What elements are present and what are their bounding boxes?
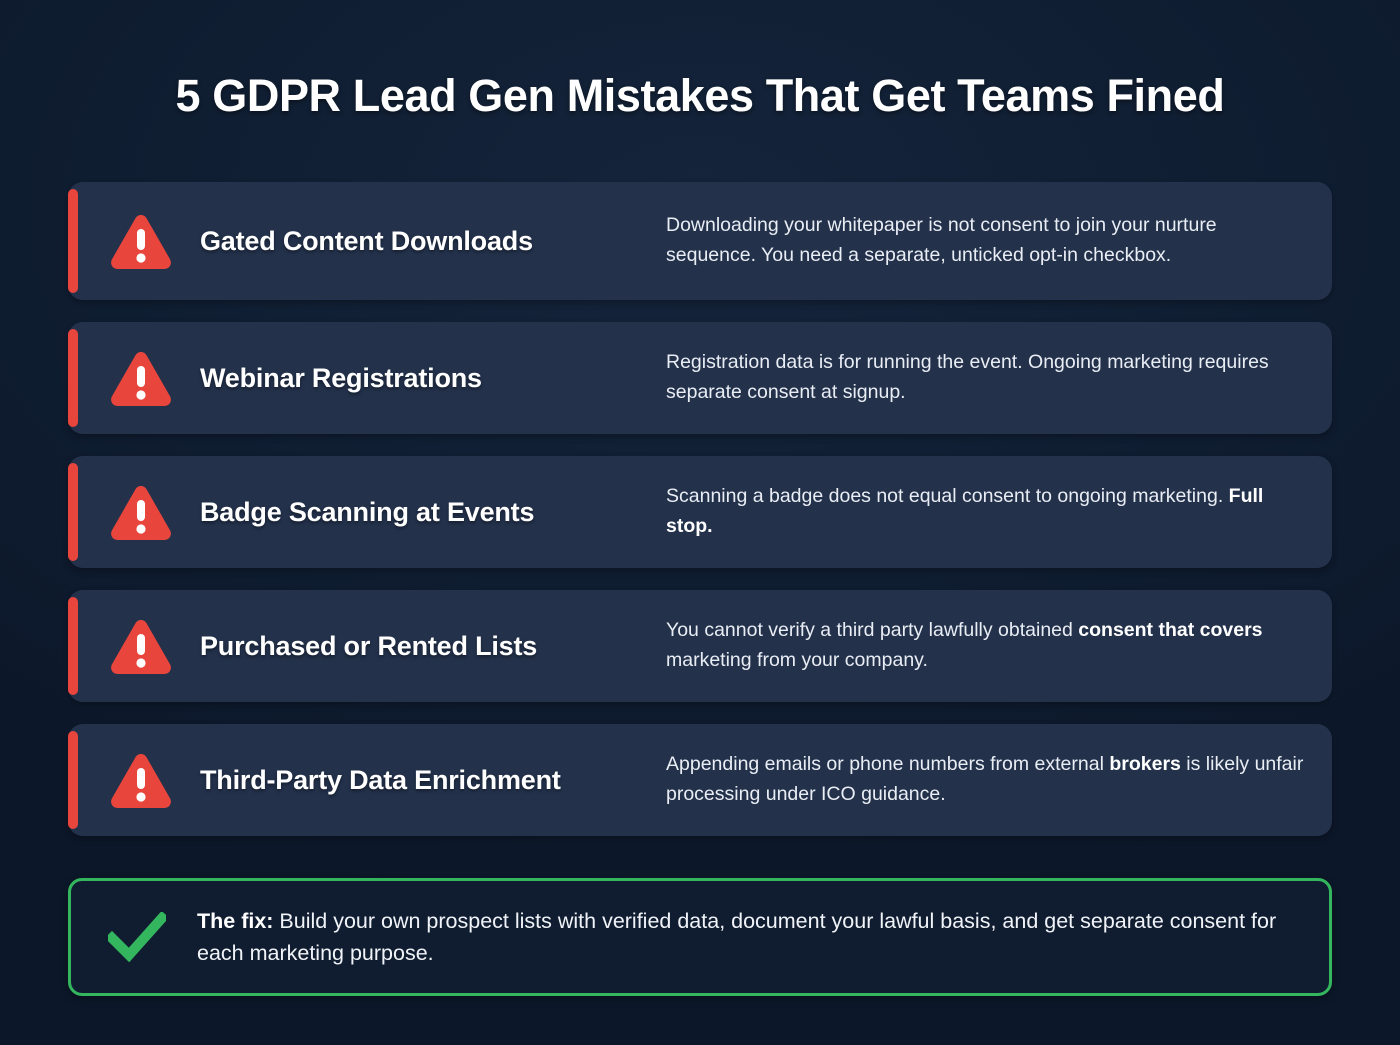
fix-text: The fix: Build your own prospect lists w…: [179, 905, 1303, 970]
fix-callout-box: The fix: Build your own prospect lists w…: [68, 878, 1332, 996]
mistake-title: Badge Scanning at Events: [178, 497, 656, 528]
mistakes-list: Gated Content DownloadsDownloading your …: [68, 182, 1332, 858]
check-mark-icon: [95, 912, 179, 962]
card-accent-bar: [68, 597, 78, 695]
card-accent-bar: [68, 189, 78, 293]
mistake-card: Purchased or Rented ListsYou cannot veri…: [68, 590, 1332, 702]
card-accent-bar: [68, 329, 78, 427]
warning-triangle-icon: [104, 213, 178, 269]
warning-triangle-icon: [104, 618, 178, 674]
mistake-card: Gated Content DownloadsDownloading your …: [68, 182, 1332, 300]
mistake-card: Badge Scanning at EventsScanning a badge…: [68, 456, 1332, 568]
page-title: 5 GDPR Lead Gen Mistakes That Get Teams …: [0, 70, 1400, 122]
mistake-description: Registration data is for running the eve…: [656, 348, 1308, 407]
card-accent-bar: [68, 463, 78, 561]
mistake-description: You cannot verify a third party lawfully…: [656, 616, 1308, 675]
mistake-title: Gated Content Downloads: [178, 226, 656, 257]
warning-triangle-icon: [104, 484, 178, 540]
mistake-title: Webinar Registrations: [178, 363, 656, 394]
mistake-description: Scanning a badge does not equal consent …: [656, 482, 1308, 541]
infographic-page: 5 GDPR Lead Gen Mistakes That Get Teams …: [0, 0, 1400, 1045]
card-accent-bar: [68, 731, 78, 829]
mistake-description: Appending emails or phone numbers from e…: [656, 750, 1308, 809]
mistake-title: Third-Party Data Enrichment: [178, 765, 656, 796]
mistake-card: Third-Party Data EnrichmentAppending ema…: [68, 724, 1332, 836]
mistake-card: Webinar RegistrationsRegistration data i…: [68, 322, 1332, 434]
warning-triangle-icon: [104, 350, 178, 406]
warning-triangle-icon: [104, 752, 178, 808]
mistake-description: Downloading your whitepaper is not conse…: [656, 211, 1308, 270]
mistake-title: Purchased or Rented Lists: [178, 631, 656, 662]
